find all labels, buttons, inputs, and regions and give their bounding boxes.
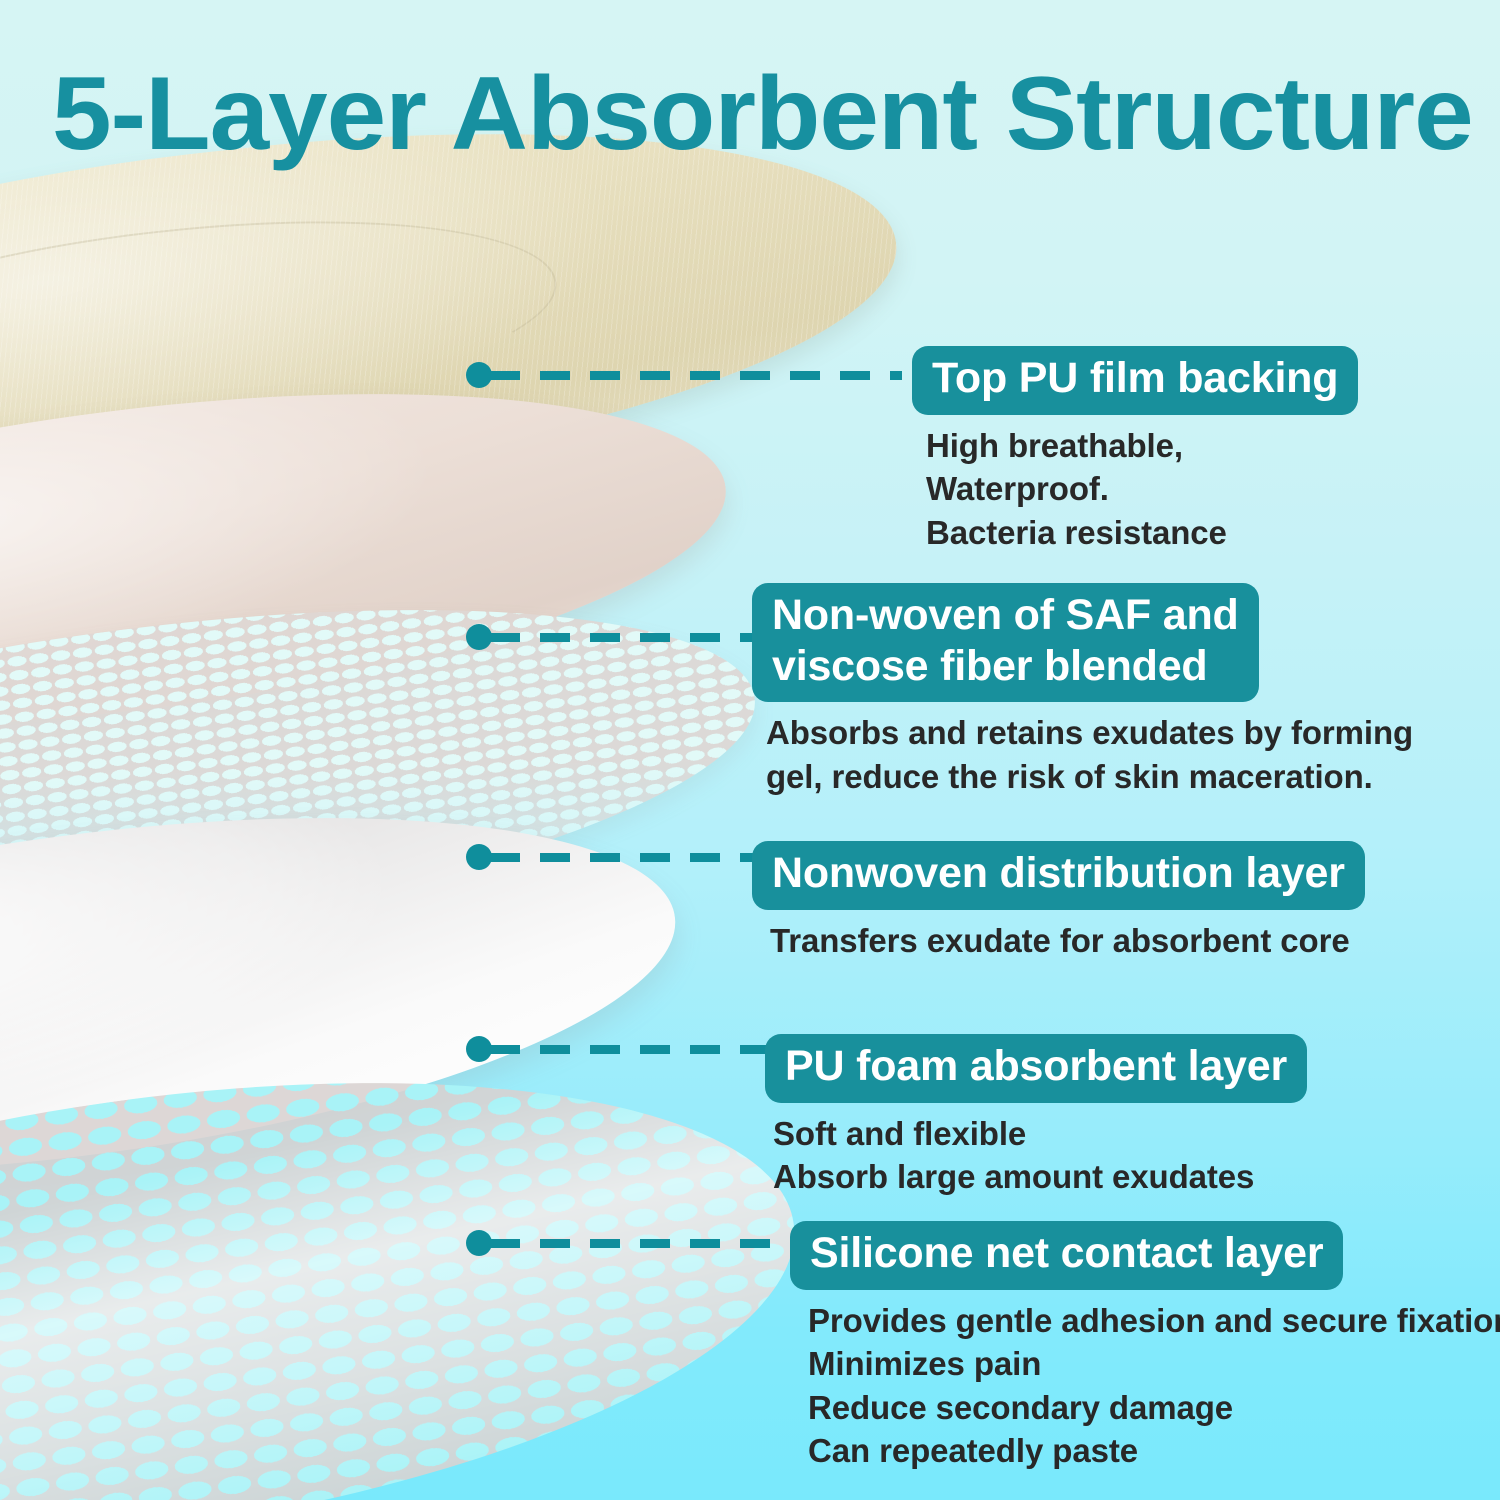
callout-pu-foam-absorbent-layer: PU foam absorbent layer Soft and flexibl…: [765, 1034, 1307, 1199]
description-line: Transfers exudate for absorbent core: [770, 919, 1365, 963]
layer-description-nonwoven-distribution-layer: Transfers exudate for absorbent core: [752, 919, 1365, 963]
connector-dot-non-woven-saf: [466, 624, 492, 650]
badge-line: viscose fiber blended: [772, 641, 1239, 692]
description-line: Absorbs and retains exudates by forming: [766, 711, 1413, 755]
infographic-poster: 5-Layer Absorbent Structure Top PU film …: [0, 0, 1500, 1500]
connector-line-top-pu-film: [466, 363, 902, 387]
badge-line: Nonwoven distribution layer: [772, 848, 1345, 899]
description-line: High breathable,: [926, 424, 1358, 468]
layer-description-non-woven-saf: Absorbs and retains exudates by forming …: [752, 711, 1413, 798]
layer-badge-pu-foam-absorbent-layer: PU foam absorbent layer: [765, 1034, 1307, 1103]
connector-dash-top-pu-film: [490, 371, 902, 380]
page-title: 5-Layer Absorbent Structure: [52, 62, 1473, 166]
description-line: Reduce secondary damage: [808, 1386, 1500, 1430]
callout-silicone-net-contact-layer: Silicone net contact layer Provides gent…: [790, 1221, 1500, 1473]
connector-dot-silicone-net: [466, 1230, 492, 1256]
description-line: gel, reduce the risk of skin maceration.: [766, 755, 1413, 799]
callout-non-woven-saf: Non-woven of SAF and viscose fiber blend…: [752, 583, 1413, 799]
badge-line: Non-woven of SAF and: [772, 590, 1239, 641]
layer-description-pu-foam-absorbent-layer: Soft and flexible Absorb large amount ex…: [765, 1112, 1307, 1199]
description-line: Bacteria resistance: [926, 511, 1358, 555]
callout-top-pu-film-backing: Top PU film backing High breathable, Wat…: [912, 346, 1358, 554]
layer-description-top-pu-film-backing: High breathable, Waterproof. Bacteria re…: [912, 424, 1358, 555]
layer-description-silicone-net-contact-layer: Provides gentle adhesion and secure fixa…: [790, 1299, 1500, 1473]
connector-line-non-woven-saf: [466, 625, 754, 649]
connector-dot-pu-foam: [466, 1036, 492, 1062]
layer-badge-top-pu-film-backing: Top PU film backing: [912, 346, 1358, 415]
badge-line: Top PU film backing: [932, 353, 1338, 404]
description-line: Minimizes pain: [808, 1342, 1500, 1386]
description-line: Provides gentle adhesion and secure fixa…: [808, 1299, 1500, 1343]
badge-line: PU foam absorbent layer: [785, 1041, 1287, 1092]
layer-badge-non-woven-saf: Non-woven of SAF and viscose fiber blend…: [752, 583, 1259, 702]
connector-dash-non-woven-saf: [490, 633, 754, 642]
description-line: Waterproof.: [926, 467, 1358, 511]
connector-dot-nonwoven-distribution: [466, 844, 492, 870]
layer-badge-nonwoven-distribution-layer: Nonwoven distribution layer: [752, 841, 1365, 910]
connector-line-silicone-net: [466, 1231, 796, 1255]
connector-line-pu-foam: [466, 1037, 766, 1061]
description-line: Absorb large amount exudates: [773, 1155, 1307, 1199]
connector-dot-top-pu-film: [466, 362, 492, 388]
connector-dash-nonwoven-distribution: [490, 853, 754, 862]
connector-line-nonwoven-distribution: [466, 845, 754, 869]
badge-line: Silicone net contact layer: [810, 1228, 1323, 1279]
description-line: Soft and flexible: [773, 1112, 1307, 1156]
connector-dash-pu-foam: [490, 1045, 766, 1054]
description-line: Can repeatedly paste: [808, 1429, 1500, 1473]
layer-badge-silicone-net-contact-layer: Silicone net contact layer: [790, 1221, 1343, 1290]
callout-nonwoven-distribution-layer: Nonwoven distribution layer Transfers ex…: [752, 841, 1365, 962]
connector-dash-silicone-net: [490, 1239, 796, 1248]
